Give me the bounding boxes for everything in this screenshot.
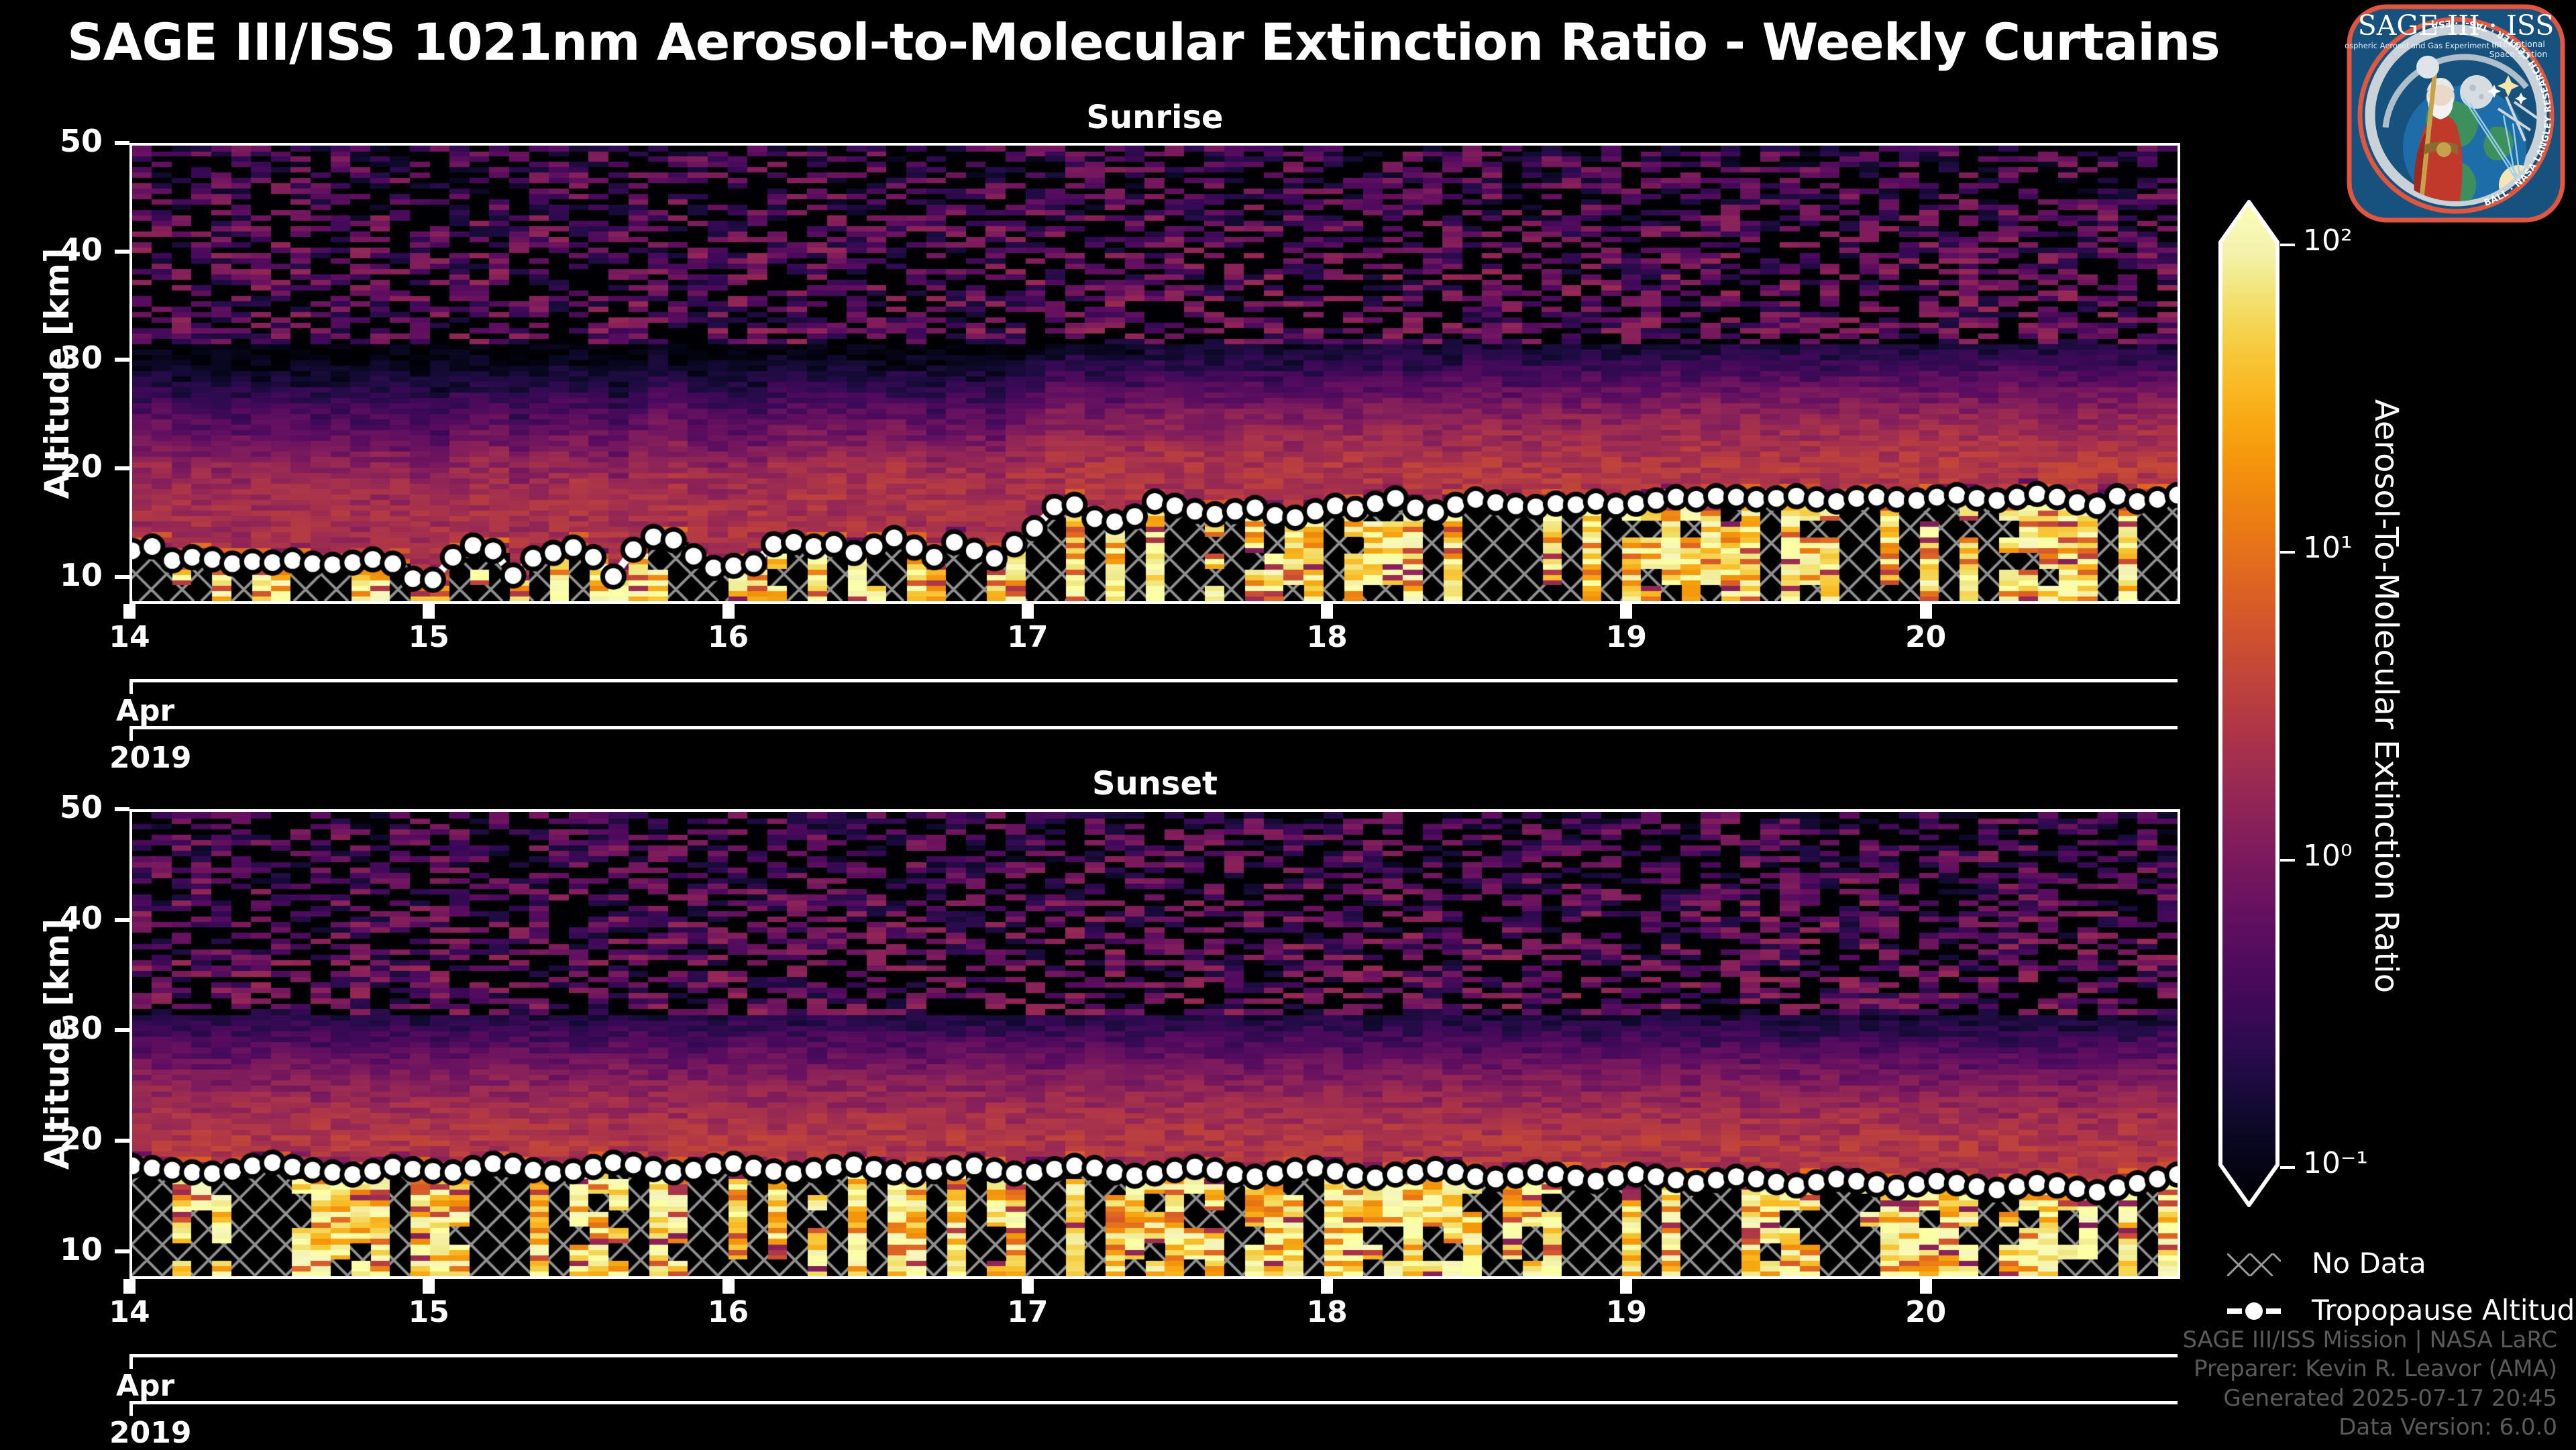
xtick-label-day-16: 16 xyxy=(688,620,769,654)
xtick-label-day-14: 14 xyxy=(89,620,170,654)
month-band-label-sunrise: Apr xyxy=(116,694,174,728)
tropopause-line-icon xyxy=(2227,1299,2281,1323)
colorbar-tick-label: 10² xyxy=(2303,223,2353,258)
footer-credits: SAGE III/ISS Mission | NASA LaRC Prepare… xyxy=(2182,1326,2557,1443)
legend-label-no-data: No Data xyxy=(2312,1247,2426,1280)
colorbar-tick-mark xyxy=(2280,244,2295,246)
ytick-mark xyxy=(115,141,129,145)
xtick-label-day-18: 18 xyxy=(1287,620,1367,654)
xtick-mark xyxy=(722,1279,735,1294)
heatmap-canvas-sunrise xyxy=(132,146,2178,601)
xtick-mark xyxy=(1321,1279,1333,1294)
xtick-mark xyxy=(123,604,136,619)
colorbar-tick-mark xyxy=(2280,1166,2295,1169)
year-band-line xyxy=(129,726,2178,729)
plot-area-sunset[interactable] xyxy=(129,809,2180,1279)
xtick-label-day-15: 15 xyxy=(388,1295,469,1329)
xtick-label-day-17: 17 xyxy=(987,1295,1068,1329)
xtick-mark xyxy=(1321,604,1333,619)
xtick-mark xyxy=(1920,1279,1932,1294)
ytick-mark xyxy=(115,1139,129,1143)
xtick-mark xyxy=(1022,604,1034,619)
month-band-cap xyxy=(129,1354,133,1369)
colorbar[interactable] xyxy=(2215,197,2288,1216)
ytick-mark xyxy=(115,807,129,811)
xtick-mark xyxy=(423,604,435,619)
logo-subtitle-right-1: International xyxy=(2491,39,2545,49)
xtick-label-day-14: 14 xyxy=(89,1295,170,1329)
colorbar-tick-label: 10¹ xyxy=(2303,531,2353,565)
year-band-cap xyxy=(129,726,133,741)
colorbar-tick-label: 10⁰ xyxy=(2303,839,2353,873)
xtick-label-day-17: 17 xyxy=(987,620,1068,654)
xtick-mark xyxy=(423,1279,435,1294)
year-band-label-sunset: 2019 xyxy=(109,1416,191,1450)
panel-title-sunset: Sunset xyxy=(129,765,2180,802)
ytick-mark xyxy=(115,918,129,922)
xtick-mark xyxy=(722,604,735,619)
xtick-label-day-19: 19 xyxy=(1586,620,1666,654)
plot-area-sunrise[interactable] xyxy=(129,143,2180,604)
panel-title-sunrise: Sunrise xyxy=(129,99,2180,136)
y-axis-label-sunset: Altitude [km] xyxy=(38,809,76,1279)
ytick-mark xyxy=(115,250,129,254)
month-band-line xyxy=(129,1354,2178,1357)
month-band-label-sunset: Apr xyxy=(116,1369,174,1403)
month-band-cap xyxy=(129,679,133,694)
heatmap-canvas-sunset xyxy=(132,812,2178,1276)
colorbar-title: Aerosol-To-Molecular Extinction Ratio xyxy=(2367,235,2405,1157)
ytick-mark xyxy=(115,358,129,362)
year-band-line xyxy=(129,1401,2178,1404)
page-title: SAGE III/ISS 1021nm Aerosol-to-Molecular… xyxy=(67,12,2220,72)
ytick-mark xyxy=(115,575,129,579)
month-band-line xyxy=(129,679,2178,682)
xtick-mark xyxy=(1620,604,1632,619)
xtick-label-day-18: 18 xyxy=(1287,1295,1367,1329)
xtick-mark xyxy=(1620,1279,1632,1294)
y-axis-label-sunrise: Altitude [km] xyxy=(38,143,76,604)
year-band-cap xyxy=(129,1401,133,1416)
xtick-label-day-20: 20 xyxy=(1886,1295,1966,1329)
xtick-mark xyxy=(1022,1279,1034,1294)
logo-title: SAGE III · ISS xyxy=(2358,9,2555,42)
xtick-label-day-15: 15 xyxy=(388,620,469,654)
sage-iii-iss-logo: BALL · NASA LANGLEY RESEARCH CENTER · TA… xyxy=(2345,3,2567,224)
ytick-mark xyxy=(115,1249,129,1253)
logo-subtitle-left: Stratospheric Aerosol and Gas Experiment… xyxy=(2345,41,2499,50)
colorbar-tick-mark xyxy=(2280,859,2295,862)
legend-label-tropopause: Tropopause Altitude xyxy=(2312,1294,2576,1327)
ytick-mark xyxy=(115,1028,129,1032)
logo-subtitle-right-2: Space Station xyxy=(2489,49,2548,59)
colorbar-tick-mark xyxy=(2280,551,2295,554)
ytick-mark xyxy=(115,466,129,470)
colorbar-tick-label: 10⁻¹ xyxy=(2303,1146,2368,1180)
xtick-label-day-19: 19 xyxy=(1586,1295,1666,1329)
xtick-label-day-16: 16 xyxy=(688,1295,769,1329)
xtick-label-day-20: 20 xyxy=(1886,620,1966,654)
no-data-hatch-icon xyxy=(2227,1253,2281,1276)
figure-canvas: SAGE III/ISS 1021nm Aerosol-to-Molecular… xyxy=(0,0,2576,1449)
xtick-mark xyxy=(123,1279,136,1294)
xtick-mark xyxy=(1920,604,1932,619)
